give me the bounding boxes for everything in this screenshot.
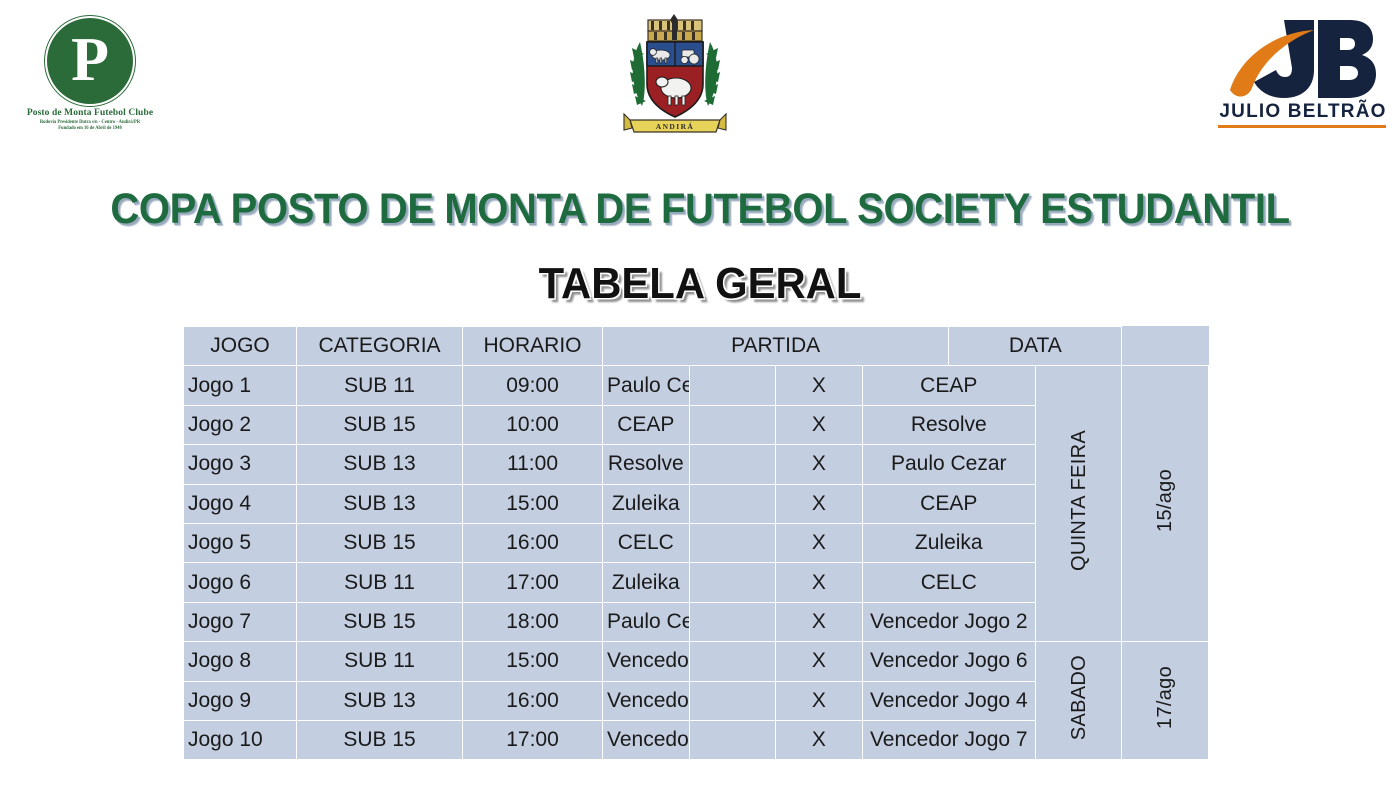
table-row: Jogo 1 SUB 11 09:00 Paulo Cezar X CEAP Q… xyxy=(184,366,1209,405)
cell-categoria: SUB 11 xyxy=(297,366,463,405)
table-row: Jogo 8 SUB 11 15:00 Vencedor jogo 1 X Ve… xyxy=(184,642,1209,681)
cell-versus: X xyxy=(776,720,863,759)
cell-versus: X xyxy=(776,681,863,720)
coat-of-arms-icon: ANDIRÁ xyxy=(620,8,730,140)
cell-date: 15/ago xyxy=(1122,366,1209,642)
jb-monogram-icon xyxy=(1218,14,1388,102)
cell-away-team: CEAP xyxy=(862,366,1035,405)
column-header-jogo: JOGO xyxy=(184,327,297,366)
cell-jogo: Jogo 2 xyxy=(184,405,297,444)
cell-jogo: Jogo 6 xyxy=(184,563,297,602)
cell-categoria: SUB 13 xyxy=(297,681,463,720)
cell-versus: X xyxy=(776,563,863,602)
column-header-categoria: CATEGORIA xyxy=(297,327,463,366)
cell-home-team: Vencedor jogo 3 xyxy=(603,681,690,720)
cell-spacer-left xyxy=(689,523,776,562)
cell-away-team: Vencedor Jogo 6 xyxy=(862,642,1035,681)
cell-spacer-left xyxy=(689,681,776,720)
cell-categoria: SUB 11 xyxy=(297,563,463,602)
cell-jogo: Jogo 10 xyxy=(184,720,297,759)
cell-home-team: Zuleika xyxy=(603,563,690,602)
cell-horario: 10:00 xyxy=(463,405,603,444)
cell-versus: X xyxy=(776,523,863,562)
cell-weekday: QUINTA FEIRA xyxy=(1035,366,1122,642)
cell-away-team: Vencedor Jogo 2 xyxy=(862,602,1035,641)
cell-categoria: SUB 13 xyxy=(297,484,463,523)
column-header-data: DATA xyxy=(949,327,1122,366)
cell-away-team: Zuleika xyxy=(862,523,1035,562)
cell-categoria: SUB 13 xyxy=(297,445,463,484)
weekday-label: SABADO xyxy=(1069,655,1089,740)
cell-away-team: Vencedor Jogo 4 xyxy=(862,681,1035,720)
cell-spacer-left xyxy=(689,642,776,681)
jb-underline-rule xyxy=(1218,125,1386,128)
cell-categoria: SUB 15 xyxy=(297,602,463,641)
cell-versus: X xyxy=(776,602,863,641)
cell-horario: 09:00 xyxy=(463,366,603,405)
cell-jogo: Jogo 3 xyxy=(184,445,297,484)
cell-home-team: Vencedor jogo 1 xyxy=(603,642,690,681)
cell-home-team: CELC xyxy=(603,523,690,562)
cell-home-team: Vencedor Jogo 5 xyxy=(603,720,690,759)
cell-categoria: SUB 15 xyxy=(297,523,463,562)
posto-de-monta-futebol-clube-logo: P Posto de Monta Futebol Clube Rodovia P… xyxy=(20,12,160,140)
cell-spacer-left xyxy=(689,602,776,641)
schedule-table: JOGO CATEGORIA HORARIO PARTIDA DATA Jogo… xyxy=(183,326,1209,760)
schedule-table-container: JOGO CATEGORIA HORARIO PARTIDA DATA Jogo… xyxy=(183,326,1209,760)
cell-versus: X xyxy=(776,484,863,523)
cell-home-team: Paulo Cezar xyxy=(603,366,690,405)
cell-away-team: Resolve xyxy=(862,405,1035,444)
cell-jogo: Jogo 1 xyxy=(184,366,297,405)
julio-beltrao-logo: JULIO BELTRÃO xyxy=(1218,14,1388,136)
club-name-text: Posto de Monta Futebol Clube xyxy=(20,108,160,119)
cell-horario: 16:00 xyxy=(463,681,603,720)
cell-spacer-left xyxy=(689,563,776,602)
cell-jogo: Jogo 4 xyxy=(184,484,297,523)
cell-spacer-left xyxy=(689,445,776,484)
cell-categoria: SUB 11 xyxy=(297,642,463,681)
date-label: 15/ago xyxy=(1155,469,1175,532)
cell-jogo: Jogo 8 xyxy=(184,642,297,681)
cell-spacer-left xyxy=(689,366,776,405)
cell-horario: 17:00 xyxy=(463,563,603,602)
column-header-partida: PARTIDA xyxy=(603,327,949,366)
page-title: COPA POSTO DE MONTA DE FUTEBOL SOCIETY E… xyxy=(49,184,1351,234)
cell-horario: 17:00 xyxy=(463,720,603,759)
cell-away-team: CELC xyxy=(862,563,1035,602)
cell-home-team: Resolve xyxy=(603,445,690,484)
cell-jogo: Jogo 5 xyxy=(184,523,297,562)
cell-categoria: SUB 15 xyxy=(297,405,463,444)
cell-home-team: Paulo Cezar xyxy=(603,602,690,641)
cell-horario: 18:00 xyxy=(463,602,603,641)
cell-spacer-left xyxy=(689,720,776,759)
club-founded-text: Fundado em 16 de Abril de 1948 xyxy=(20,125,160,132)
cell-weekday: SABADO xyxy=(1035,642,1122,760)
page-subtitle: TABELA GERAL xyxy=(35,258,1365,310)
cell-versus: X xyxy=(776,445,863,484)
jb-brand-name: JULIO BELTRÃO xyxy=(1218,102,1388,122)
cell-horario: 16:00 xyxy=(463,523,603,562)
weekday-label: QUINTA FEIRA xyxy=(1069,430,1089,571)
cell-date: 17/ago xyxy=(1122,642,1209,760)
coat-of-arms-ribbon-text: ANDIRÁ xyxy=(656,121,694,131)
cell-jogo: Jogo 7 xyxy=(184,602,297,641)
cell-spacer-left xyxy=(689,484,776,523)
club-crest-icon: P xyxy=(45,16,135,106)
logo-bar: P Posto de Monta Futebol Clube Rodovia P… xyxy=(0,0,1400,150)
cell-home-team: Zuleika xyxy=(603,484,690,523)
cell-horario: 11:00 xyxy=(463,445,603,484)
cell-horario: 15:00 xyxy=(463,642,603,681)
cell-away-team: CEAP xyxy=(862,484,1035,523)
table-header-row: JOGO CATEGORIA HORARIO PARTIDA DATA xyxy=(184,327,1209,366)
cell-categoria: SUB 15 xyxy=(297,720,463,759)
cell-versus: X xyxy=(776,405,863,444)
municipal-coat-of-arms: ANDIRÁ xyxy=(620,8,730,140)
date-label: 17/ago xyxy=(1155,666,1175,729)
cell-versus: X xyxy=(776,642,863,681)
column-header-horario: HORARIO xyxy=(463,327,603,366)
club-monogram: P xyxy=(47,29,133,91)
cell-away-team: Vencedor Jogo 7 xyxy=(862,720,1035,759)
cell-horario: 15:00 xyxy=(463,484,603,523)
cell-versus: X xyxy=(776,366,863,405)
table-body: Jogo 1 SUB 11 09:00 Paulo Cezar X CEAP Q… xyxy=(184,366,1209,760)
cell-jogo: Jogo 9 xyxy=(184,681,297,720)
cell-home-team: CEAP xyxy=(603,405,690,444)
cell-spacer-left xyxy=(689,405,776,444)
cell-away-team: Paulo Cezar xyxy=(862,445,1035,484)
